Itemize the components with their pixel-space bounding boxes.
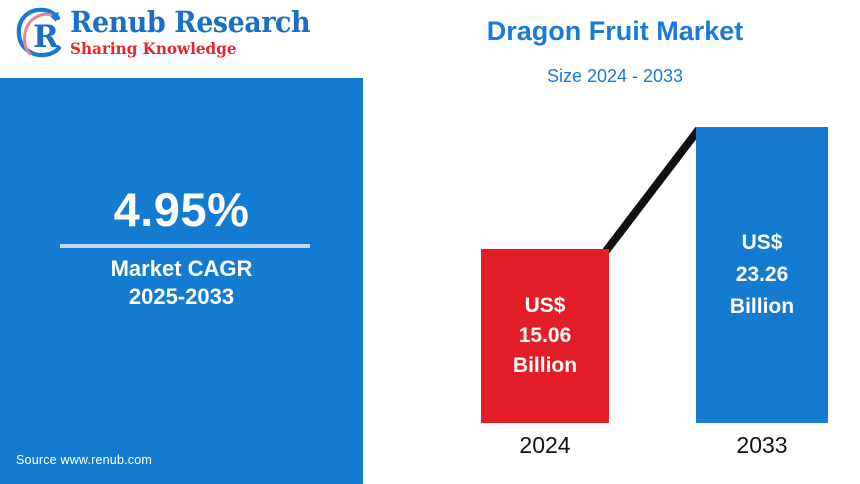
brand-logo: R Renub Research Sharing Knowledge bbox=[8, 2, 368, 68]
cagr-period: 2025-2033 bbox=[0, 283, 363, 311]
bar-2033[interactable]: US$ 23.26 Billion bbox=[696, 127, 828, 423]
cagr-stat-panel: 4.95% Market CAGR 2025-2033 Source www.r… bbox=[0, 78, 363, 484]
stat-divider bbox=[60, 244, 310, 248]
bar-2033-amount: 23.26 bbox=[736, 259, 789, 291]
source-note: Source www.renub.com bbox=[16, 453, 152, 467]
bar-2024[interactable]: US$ 15.06 Billion bbox=[481, 249, 609, 423]
brand-tagline: Sharing Knowledge bbox=[70, 39, 315, 58]
brand-text: Renub Research Sharing Knowledge bbox=[70, 6, 328, 58]
chart-title: Dragon Fruit Market bbox=[380, 14, 850, 48]
brand-name: Renub Research bbox=[70, 6, 310, 38]
bar-2033-unit: Billion bbox=[730, 291, 794, 323]
bar-2024-amount: 15.06 bbox=[519, 321, 572, 351]
cagr-value: 4.95% bbox=[0, 183, 363, 237]
bar-2033-currency: US$ bbox=[742, 227, 783, 259]
svg-text:R: R bbox=[33, 19, 59, 55]
chart-subtitle: Size 2024 - 2033 bbox=[380, 64, 850, 88]
cagr-label: Market CAGR bbox=[0, 255, 363, 283]
growth-connector-line-icon bbox=[595, 115, 710, 265]
infographic-canvas: R Renub Research Sharing Knowledge 4.95%… bbox=[0, 0, 860, 484]
bar-2024-unit: Billion bbox=[513, 351, 577, 381]
axis-label-2033: 2033 bbox=[696, 430, 828, 460]
renub-circular-r-logo-icon: R bbox=[12, 4, 72, 64]
bar-2024-currency: US$ bbox=[525, 291, 566, 321]
axis-label-2024: 2024 bbox=[481, 430, 609, 460]
